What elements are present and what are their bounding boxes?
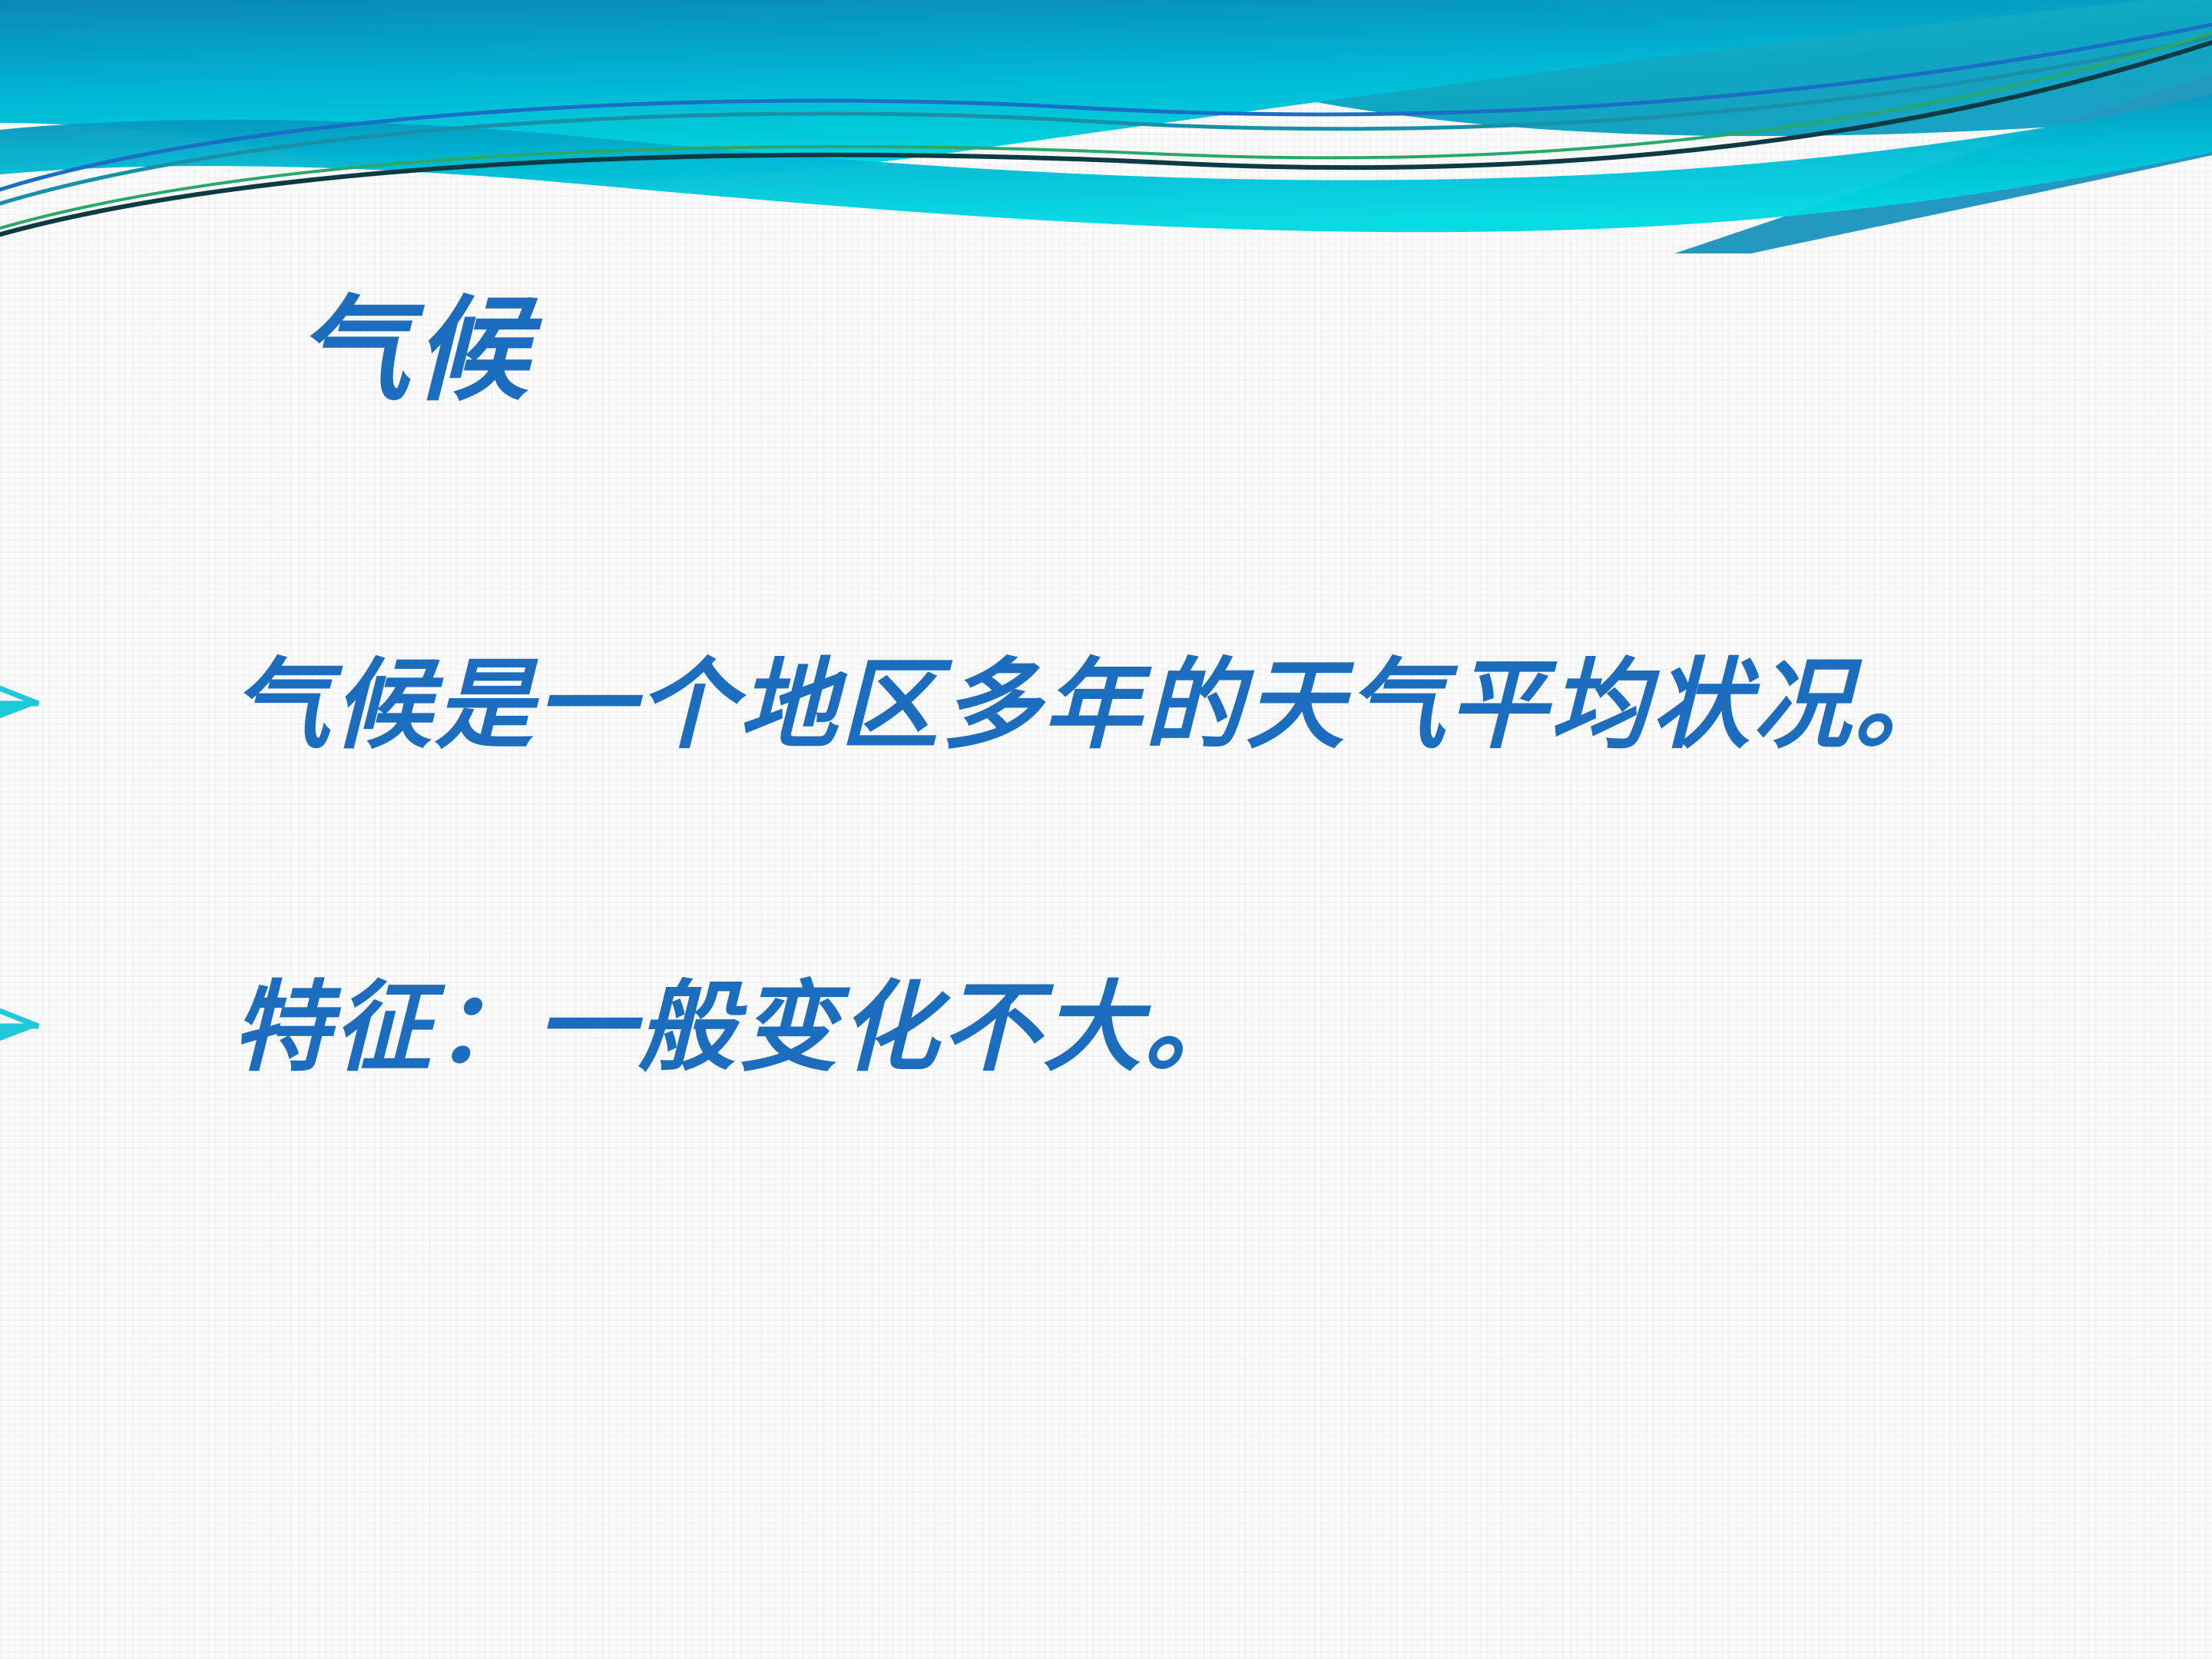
bullet-item: 特征：一般变化不大。: [0, 966, 2212, 1089]
presentation-slide: 气候 气候是一个地区多年的天气平均状况。 特征：一般变化不大。: [0, 0, 2212, 1659]
bullet-text: 特征：一般变化不大。: [232, 966, 1246, 1089]
bullet-text: 气候是一个地区多年的天气平均状况。: [232, 644, 1955, 767]
arrow-bullet-icon: [0, 966, 43, 1089]
slide-title: 气候: [296, 283, 533, 417]
slide-content: 气候 气候是一个地区多年的天气平均状况。 特征：一般变化不大。: [0, 0, 2212, 1659]
bullet-item: 气候是一个地区多年的天气平均状况。: [0, 644, 2212, 767]
arrow-bullet-icon: [0, 644, 43, 767]
